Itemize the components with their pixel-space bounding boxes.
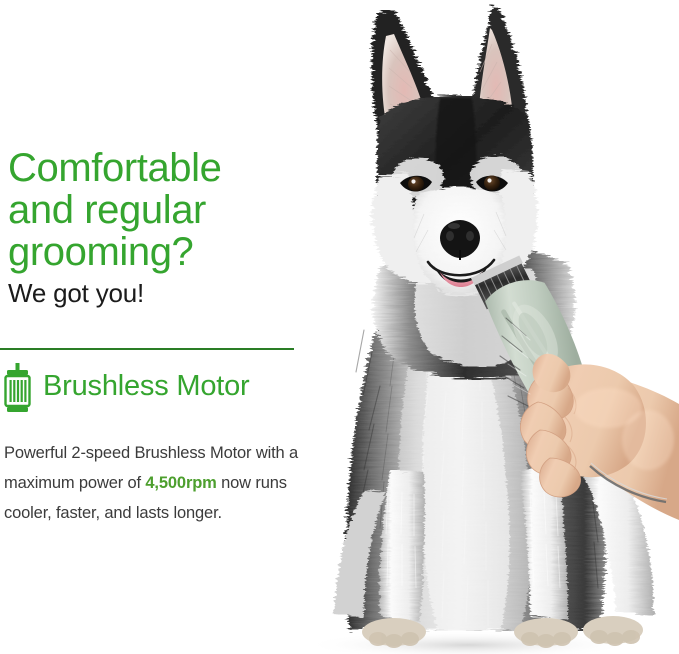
copy-column: Comfortable and regular grooming? We got… (0, 0, 330, 654)
headline-line-2: and regular (8, 189, 308, 231)
feature-rpm-highlight: 4,500rpm (145, 474, 216, 492)
section-divider (0, 348, 294, 350)
headline-line-1: Comfortable (8, 147, 308, 189)
brushless-motor-icon (3, 363, 33, 413)
subheadline: We got you! (8, 278, 144, 308)
product-feature-banner: Comfortable and regular grooming? We got… (0, 0, 679, 654)
feature-title: Brushless Motor (43, 362, 250, 410)
feature-description: Powerful 2-speed Brushless Motor with a … (4, 438, 324, 528)
page-title: Comfortable and regular grooming? (8, 147, 308, 273)
headline-line-3: grooming? (8, 231, 308, 273)
feature-header-row: Brushless Motor (3, 362, 323, 414)
